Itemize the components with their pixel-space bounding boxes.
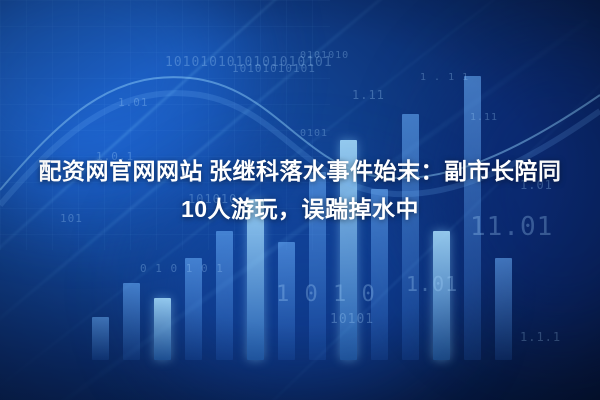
site-name: 配资网官网网站 <box>39 158 204 184</box>
headline-line-1: 配资网官网网站张继科落水事件始末：副市长陪同 <box>8 152 592 190</box>
promo-banner-image: 10101010101010101011010101010101010101.0… <box>0 0 600 400</box>
headline-title-part-1: 张继科落水事件始末：副市长陪同 <box>209 158 562 184</box>
headline-line-2: 10人游玩，误踹掉水中 <box>8 190 592 228</box>
headline-text: 配资网官网网站张继科落水事件始末：副市长陪同 10人游玩，误踹掉水中 <box>0 152 600 228</box>
